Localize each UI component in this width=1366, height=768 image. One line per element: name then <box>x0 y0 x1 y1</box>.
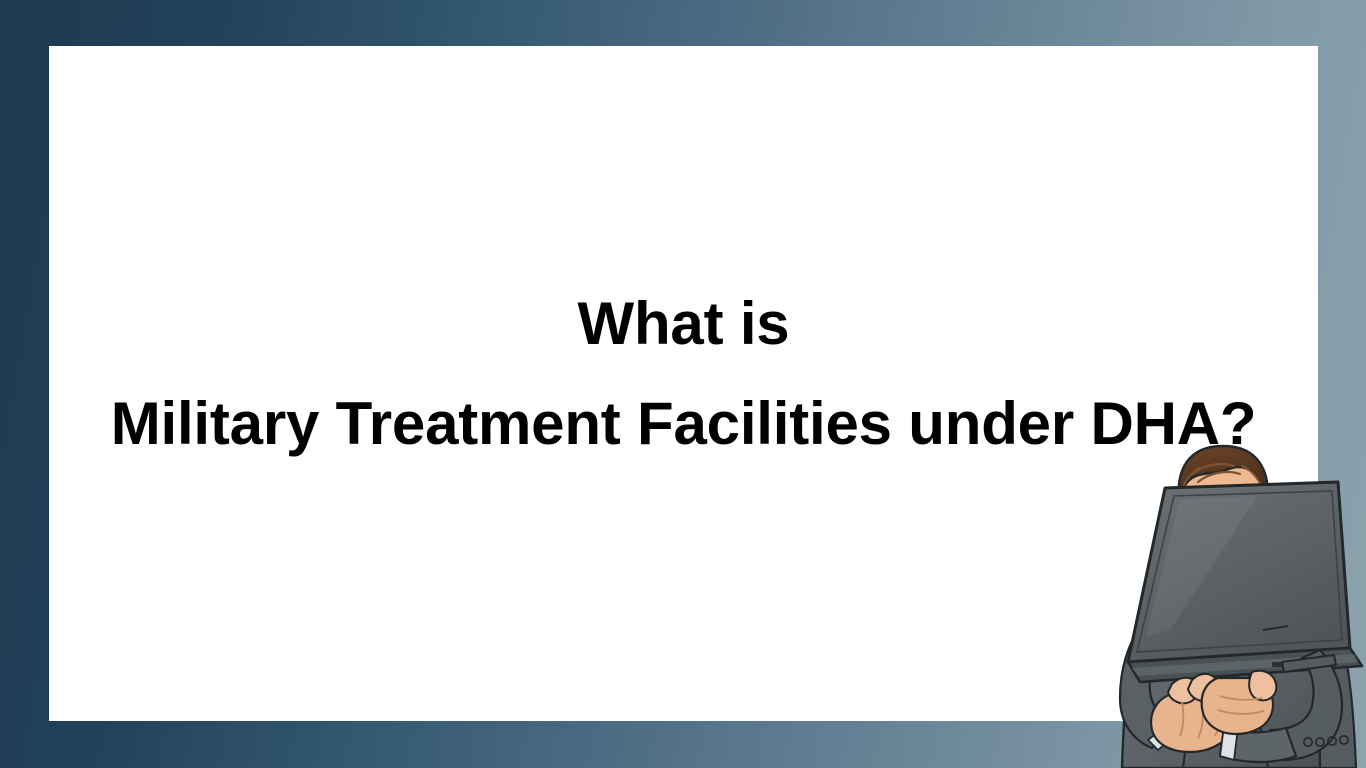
slide-heading-block: What is Military Treatment Facilities un… <box>49 46 1318 474</box>
slide-title-line-2: Military Treatment Facilities under DHA? <box>49 374 1318 474</box>
sleeve-buttons <box>1304 736 1348 746</box>
presentation-slide: What is Military Treatment Facilities un… <box>0 0 1366 768</box>
slide-title-line-1: What is <box>49 274 1318 374</box>
slide-content-panel: What is Military Treatment Facilities un… <box>49 46 1318 721</box>
